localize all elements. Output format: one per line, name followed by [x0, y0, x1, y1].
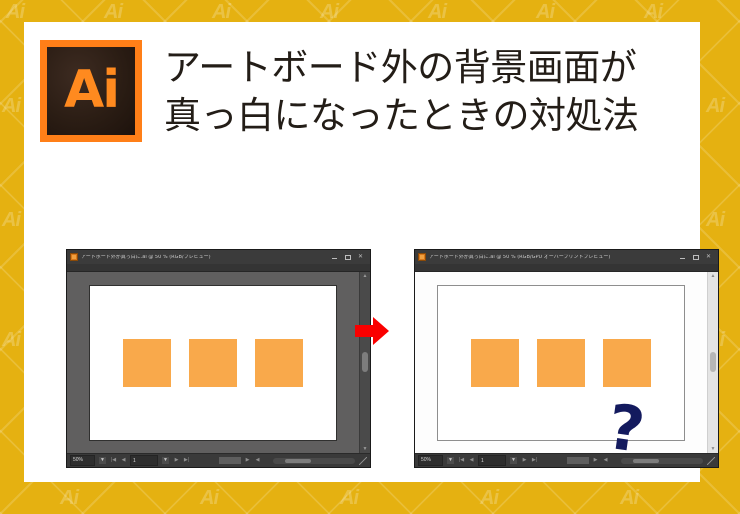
orange-square[interactable] — [537, 339, 585, 387]
artboard[interactable] — [437, 285, 685, 441]
canvas-background-white[interactable] — [415, 272, 707, 453]
scroll-down-icon[interactable]: ▼ — [708, 445, 718, 453]
page-title: アートボード外の背景画面が 真っ白になったときの対処法 — [164, 40, 639, 140]
prev-artboard-icon[interactable]: ◀ — [468, 456, 475, 465]
minimize-button[interactable] — [330, 253, 339, 261]
frame-watermark-ai: Ai — [340, 488, 358, 508]
frame-watermark-ai: Ai — [320, 2, 338, 22]
illustrator-app-icon: Ai — [40, 40, 142, 142]
document-icon — [70, 253, 78, 261]
artwork-squares — [438, 339, 684, 387]
artwork-squares — [90, 339, 336, 387]
current-tool-indicator[interactable] — [219, 457, 241, 464]
vertical-scrollbar[interactable]: ▲ ▼ — [359, 272, 370, 453]
document-tab-bar[interactable] — [67, 264, 370, 272]
right-arrow-icon — [355, 316, 389, 346]
close-button[interactable]: ✕ — [704, 253, 713, 261]
artboard-number-input[interactable]: 1 — [130, 455, 158, 466]
zoom-level-input[interactable]: 50% — [70, 455, 95, 466]
maximize-button[interactable] — [343, 253, 352, 261]
next-artboard-icon[interactable]: ▶ — [521, 456, 528, 465]
orange-square[interactable] — [189, 339, 237, 387]
zoom-dropdown-caret-icon[interactable]: ▼ — [446, 456, 455, 465]
resize-grip-icon[interactable] — [359, 457, 367, 465]
scroll-up-icon[interactable]: ▲ — [360, 272, 370, 280]
status-prev-icon[interactable]: ◀ — [254, 456, 261, 465]
document-icon — [418, 253, 426, 261]
minimize-button[interactable] — [678, 253, 687, 261]
orange-square[interactable] — [255, 339, 303, 387]
frame-watermark-ai: Ai — [620, 488, 638, 508]
last-artboard-icon[interactable]: ▶| — [183, 456, 190, 465]
close-button[interactable]: ✕ — [356, 253, 365, 261]
canvas-area: ▲ ▼ — [415, 272, 718, 453]
next-artboard-icon[interactable]: ▶ — [173, 456, 180, 465]
scrollbar-thumb[interactable] — [362, 352, 368, 372]
status-bar[interactable]: 50% ▼ |◀ ◀ 1 ▼ ▶ ▶| ▶ ◀ — [67, 453, 370, 467]
frame-watermark-ai: Ai — [706, 96, 724, 116]
illustrator-window-after[interactable]: アートボード外が真っ白に.ai @ 50 % (RGB/GPU オーバープリント… — [414, 249, 719, 468]
frame-watermark-ai: Ai — [480, 488, 498, 508]
frame-watermark-ai: Ai — [200, 488, 218, 508]
maximize-button[interactable] — [691, 253, 700, 261]
frame-watermark-ai: Ai — [428, 2, 446, 22]
frame-watermark-ai: Ai — [104, 2, 122, 22]
frame-watermark-ai: Ai — [60, 488, 78, 508]
scrollbar-thumb[interactable] — [710, 352, 716, 372]
page-title-line-1: アートボード外の背景画面が — [164, 44, 639, 92]
artboard-dropdown-caret-icon[interactable]: ▼ — [509, 456, 518, 465]
frame-watermark-ai: Ai — [2, 330, 20, 350]
artboard-number-input[interactable]: 1 — [478, 455, 506, 466]
frame-watermark-ai: Ai — [2, 210, 20, 230]
header: Ai アートボード外の背景画面が 真っ白になったときの対処法 — [40, 40, 639, 142]
scroll-down-icon[interactable]: ▼ — [360, 445, 370, 453]
window-title: アートボード外が真っ白に.ai @ 50 % (RGB/プレビュー) — [81, 254, 327, 259]
prev-artboard-icon[interactable]: ◀ — [120, 456, 127, 465]
resize-grip-icon[interactable] — [707, 457, 715, 465]
window-title: アートボード外が真っ白に.ai @ 50 % (RGB/GPU オーバープリント… — [429, 254, 675, 259]
frame-watermark-ai: Ai — [2, 96, 20, 116]
illustrator-window-before[interactable]: アートボード外が真っ白に.ai @ 50 % (RGB/プレビュー) ✕ — [66, 249, 371, 468]
current-tool-indicator[interactable] — [567, 457, 589, 464]
vertical-scrollbar[interactable]: ▲ ▼ — [707, 272, 718, 453]
frame-watermark-ai: Ai — [212, 2, 230, 22]
content-card: Ai アートボード外の背景画面が 真っ白になったときの対処法 アートボード外が真… — [24, 22, 700, 482]
page-title-line-2: 真っ白になったときの対処法 — [164, 92, 639, 140]
zoom-level-input[interactable]: 50% — [418, 455, 443, 466]
status-bar[interactable]: 50% ▼ |◀ ◀ 1 ▼ ▶ ▶| ▶ ◀ — [415, 453, 718, 467]
frame-watermark-ai: Ai — [706, 210, 724, 230]
app-icon-inner: Ai — [47, 47, 135, 135]
orange-square[interactable] — [603, 339, 651, 387]
canvas-background-dark[interactable] — [67, 272, 359, 453]
last-artboard-icon[interactable]: ▶| — [531, 456, 538, 465]
status-menu-caret-icon[interactable]: ▶ — [592, 456, 599, 465]
horizontal-scrollbar-thumb[interactable] — [285, 459, 311, 463]
orange-square[interactable] — [471, 339, 519, 387]
status-menu-caret-icon[interactable]: ▶ — [244, 456, 251, 465]
zoom-dropdown-caret-icon[interactable]: ▼ — [98, 456, 107, 465]
window-controls[interactable]: ✕ — [330, 253, 368, 261]
artboard-dropdown-caret-icon[interactable]: ▼ — [161, 456, 170, 465]
window-titlebar[interactable]: アートボード外が真っ白に.ai @ 50 % (RGB/GPU オーバープリント… — [415, 250, 718, 264]
horizontal-scrollbar[interactable] — [272, 457, 356, 465]
poster-stage: Ai Ai Ai Ai Ai Ai Ai Ai Ai Ai Ai Ai Ai A… — [0, 0, 740, 514]
app-icon-label: Ai — [64, 64, 118, 116]
artboard[interactable] — [89, 285, 337, 441]
canvas-area: ▲ ▼ — [67, 272, 370, 453]
frame-watermark-ai: Ai — [6, 2, 24, 22]
orange-square[interactable] — [123, 339, 171, 387]
first-artboard-icon[interactable]: |◀ — [458, 456, 465, 465]
frame-watermark-ai: Ai — [644, 2, 662, 22]
document-tab-bar[interactable] — [415, 264, 718, 272]
first-artboard-icon[interactable]: |◀ — [110, 456, 117, 465]
scroll-up-icon[interactable]: ▲ — [708, 272, 718, 280]
frame-watermark-ai: Ai — [536, 2, 554, 22]
window-titlebar[interactable]: アートボード外が真っ白に.ai @ 50 % (RGB/プレビュー) ✕ — [67, 250, 370, 264]
window-controls[interactable]: ✕ — [678, 253, 716, 261]
